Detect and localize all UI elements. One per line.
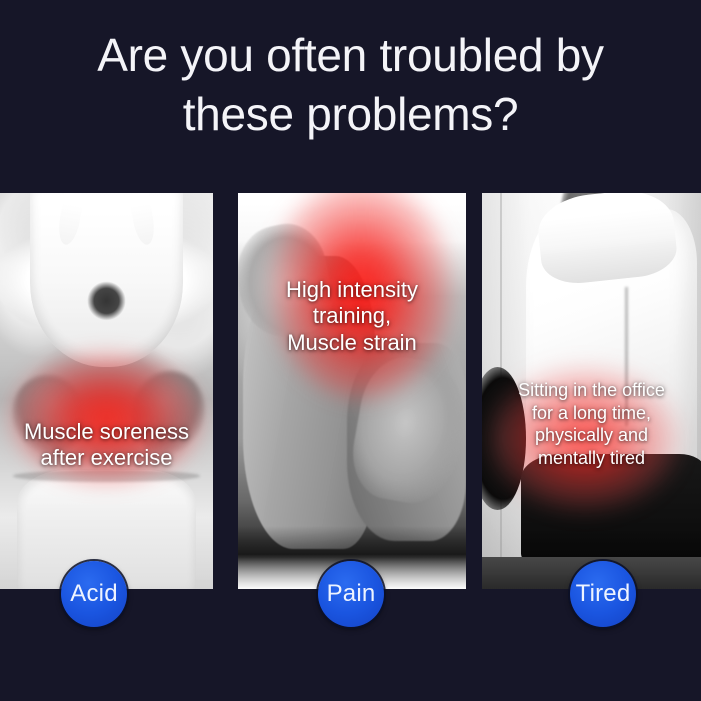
trousers: [521, 454, 701, 565]
page-title: Are you often troubled by these problems…: [0, 26, 701, 144]
promo-poster: Are you often troubled by these problems…: [0, 0, 701, 701]
badge-tired[interactable]: Tired: [570, 561, 636, 627]
photo-knee-strain: [238, 193, 466, 589]
badge-pain[interactable]: Pain: [318, 561, 384, 627]
bra-strap-right: [128, 193, 157, 247]
sports-bra: [30, 193, 183, 367]
panel-caption-pain: High intensity training, Muscle strain: [238, 277, 466, 356]
problem-panels: Muscle soreness after exercise High inte…: [0, 193, 701, 589]
photo-woman-lower-back: [0, 193, 213, 589]
bra-strap-left: [56, 193, 85, 247]
panel-caption-acid: Muscle soreness after exercise: [0, 419, 213, 472]
panel-caption-tired: Sitting in the office for a long time, p…: [482, 379, 701, 470]
panel-tired[interactable]: Sitting in the office for a long time, p…: [482, 193, 701, 589]
badge-acid[interactable]: Acid: [61, 561, 127, 627]
panel-pain[interactable]: High intensity training, Muscle strain: [238, 193, 466, 589]
panel-acid[interactable]: Muscle soreness after exercise: [0, 193, 213, 589]
